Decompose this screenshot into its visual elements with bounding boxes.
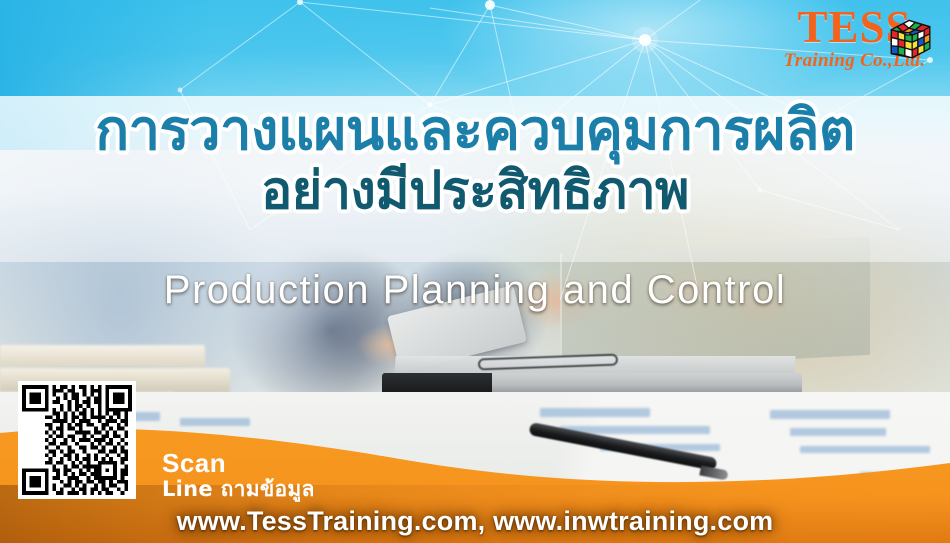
poster-canvas: TESS Training Co.,Ltd. xyxy=(0,0,950,543)
scan-line-badge: Scan Line ถามข้อมูล xyxy=(162,450,315,502)
page-title-thai-line2: อย่างมีประสิทธิภาพ xyxy=(0,162,950,220)
scan-label: Scan xyxy=(162,450,315,477)
rubiks-cube-icon xyxy=(882,10,934,62)
qr-code-graphic xyxy=(22,385,132,495)
qr-code-icon[interactable] xyxy=(18,381,136,499)
page-title-thai-line1: การวางแผนและควบคุมการผลิต xyxy=(0,100,950,162)
footer-website-urls[interactable]: www.TessTraining.com, www.inwtraining.co… xyxy=(0,506,950,537)
brand-logo: TESS Training Co.,Ltd. xyxy=(767,4,942,86)
book-stack-item xyxy=(0,345,205,367)
line-contact-label: Line ถามข้อมูล xyxy=(162,477,315,502)
laptop-edge xyxy=(382,373,492,394)
page-subtitle-english: Production Planning and Control xyxy=(0,268,950,313)
title-block: การวางแผนและควบคุมการผลิต อย่างมีประสิทธ… xyxy=(0,100,950,220)
